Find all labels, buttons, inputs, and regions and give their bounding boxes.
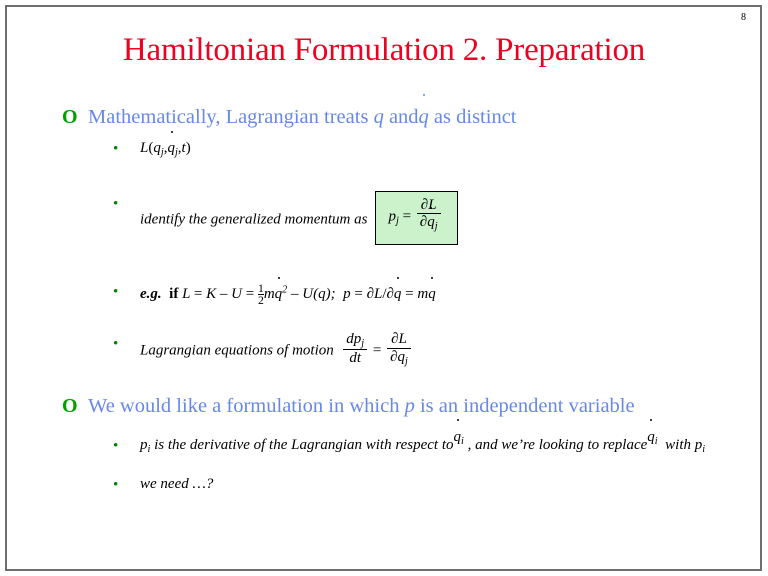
bullet-marker-circle-icon: O	[62, 104, 78, 130]
text-with: with	[665, 437, 695, 453]
subscript-i-4: i	[702, 444, 705, 455]
page-title: Hamiltonian Formulation 2. Preparation	[0, 32, 768, 69]
variable-q-dot: q	[275, 284, 283, 304]
bullet-level2-label: Lagrangian equations of motion	[140, 342, 334, 358]
bullet-text-c: as distinct	[429, 106, 517, 128]
overdot-icon	[397, 277, 399, 279]
subscript-j: j	[396, 215, 399, 226]
bullet-level2-p-derivative: • pi is the derivative of the Lagrangian…	[0, 435, 768, 460]
exponent-2: 2	[282, 285, 287, 296]
fraction-denominator: ∂qj	[417, 213, 441, 232]
symbol-p: p	[388, 208, 396, 224]
slide: 8 Hamiltonian Formulation 2. Preparation…	[0, 0, 768, 576]
overdot-icon	[171, 131, 173, 133]
fraction-denominator: ∂qj	[387, 348, 411, 367]
overdot-icon	[457, 419, 459, 421]
symbol-m: m	[264, 286, 275, 302]
text-replace-phrase: , and we’re looking to replace	[468, 437, 648, 453]
text-derivative-phrase: is the derivative of the Lagrangian with…	[150, 437, 453, 453]
subscript-i-3: i	[655, 436, 658, 447]
symbol-q: q	[454, 429, 462, 445]
paren-close: )	[186, 140, 191, 156]
symbol-L: L	[399, 331, 407, 347]
bullet-text-b: is an independent variable	[415, 395, 635, 417]
symbol-U-2: U	[302, 286, 313, 302]
equals-4: =	[405, 286, 413, 302]
partial-q-dot: ∂q∂q	[387, 286, 402, 302]
partial-symbol-icon: ∂	[391, 331, 398, 347]
fraction-numerator: ∂L	[417, 197, 441, 214]
bullet-level1-mathematically: O Mathematically, Lagrangian treats q an…	[0, 104, 768, 130]
fraction-dL-dqdot: ∂L∂qj	[417, 197, 441, 233]
fraction-numerator: ∂L	[387, 331, 411, 348]
bullet-level2-we-need: • we need …?	[0, 474, 768, 494]
variable-q-dot-raised-1: qi	[454, 427, 464, 452]
subscript-i-2: i	[461, 436, 464, 447]
symbol-q: q	[427, 214, 435, 230]
slide-body: O Mathematically, Lagrangian treats q an…	[0, 104, 768, 494]
subscript-j: j	[361, 338, 364, 349]
symbol-m-2: m	[417, 286, 428, 302]
symbol-K: K	[206, 286, 216, 302]
bullet-level2-label: identify the generalized momentum as	[140, 211, 367, 227]
bullet-marker-dot-icon: •	[113, 475, 118, 495]
bullet-text-b: and	[384, 106, 419, 128]
variable-q-dot: q	[647, 427, 655, 447]
bullet-marker-dot-icon: •	[113, 334, 118, 354]
symbol-p: p	[140, 437, 148, 453]
subscript-j: j	[405, 355, 408, 366]
formula-example-lagrangian: e.g. if L = K – U = 12mq2 – U(q); p = ∂L…	[140, 286, 436, 302]
page-number: 8	[741, 13, 746, 23]
symbol-U-1: U	[231, 286, 242, 302]
variable-p: p	[405, 395, 415, 417]
minus-2: –	[291, 286, 299, 302]
overdot-icon	[278, 277, 280, 279]
equals-sign: =	[373, 342, 381, 358]
symbol-q: q	[647, 429, 655, 445]
bullet-level2-example: • e.g. if L = K – U = 12mq2 – U(q); p = …	[0, 281, 768, 307]
bullet-text-a: We would like a formulation in which	[88, 395, 405, 417]
bullet-level2-lagrangian-args: • L(qj,qj,t)	[0, 138, 768, 163]
overdot-icon	[431, 277, 433, 279]
bullet-marker-dot-icon: •	[113, 194, 118, 214]
variable-q-dot: q	[428, 284, 436, 304]
equals-1: =	[194, 286, 202, 302]
equals-sign: =	[403, 208, 411, 224]
equals-2: =	[246, 286, 254, 302]
overdot-icon	[650, 419, 652, 421]
paren-q-term: (q);	[313, 286, 336, 302]
bullet-text-a: Mathematically, Lagrangian treats	[88, 106, 374, 128]
bullet-marker-dot-icon: •	[113, 436, 118, 456]
bullet-marker-dot-icon: •	[113, 282, 118, 302]
bullet-level2-identify-momentum: • identify the generalized momentum aspj…	[0, 193, 768, 247]
equals-3: =	[354, 286, 362, 302]
if-label: if	[169, 286, 178, 302]
variable-q-dot: q	[394, 284, 402, 304]
variable-q-dot: q	[427, 214, 435, 231]
variable-q-dot: q	[419, 104, 429, 130]
slash: /	[382, 286, 386, 302]
fraction-dp-dt: dpjdt	[343, 331, 367, 367]
overdot-icon	[423, 94, 425, 96]
bullet-marker-circle-icon: O	[62, 393, 78, 419]
minus-1: –	[220, 286, 228, 302]
formula-lagrangian-arguments: L(qj,qj,t)	[140, 140, 191, 156]
symbol-p: p	[343, 286, 351, 302]
symbol-q-2: q	[428, 286, 436, 302]
bullet-marker-dot-icon: •	[113, 139, 118, 159]
symbol-L: L	[182, 286, 190, 302]
partial-symbol-icon: ∂	[390, 349, 397, 365]
partial-symbol-icon: ∂	[420, 214, 427, 230]
subscript-j: j	[435, 221, 438, 232]
fraction-numerator: dpj	[343, 331, 367, 349]
variable-q: q	[374, 106, 384, 128]
bullet-level2-text: pi is the derivative of the Lagrangian w…	[140, 437, 705, 453]
variable-q-dot-raised-2: qi	[647, 427, 657, 452]
bullet-level2-equations-of-motion: • Lagrangian equations of motion dpjdt =…	[0, 333, 768, 369]
symbol-L: L	[428, 197, 436, 213]
variable-q-dot-letter: q	[419, 106, 429, 128]
symbol-d: d	[346, 331, 354, 347]
fraction-denominator: dt	[343, 349, 367, 367]
partial-L: ∂L	[367, 286, 383, 302]
symbol-q: q	[275, 286, 283, 302]
variable-q-dot-sub: q	[167, 138, 175, 158]
bullet-level2-label: we need …?	[140, 476, 213, 492]
symbol-q: q	[398, 349, 406, 365]
variable-q-dot: q	[454, 427, 462, 447]
eg-label: e.g.	[140, 286, 162, 302]
bullet-level1-formulation-with-p: O We would like a formulation in which p…	[0, 393, 768, 419]
formula-box-generalized-momentum: pj = ∂L∂qj	[375, 191, 457, 245]
fraction-dL-dq: ∂L∂qj	[387, 331, 411, 367]
